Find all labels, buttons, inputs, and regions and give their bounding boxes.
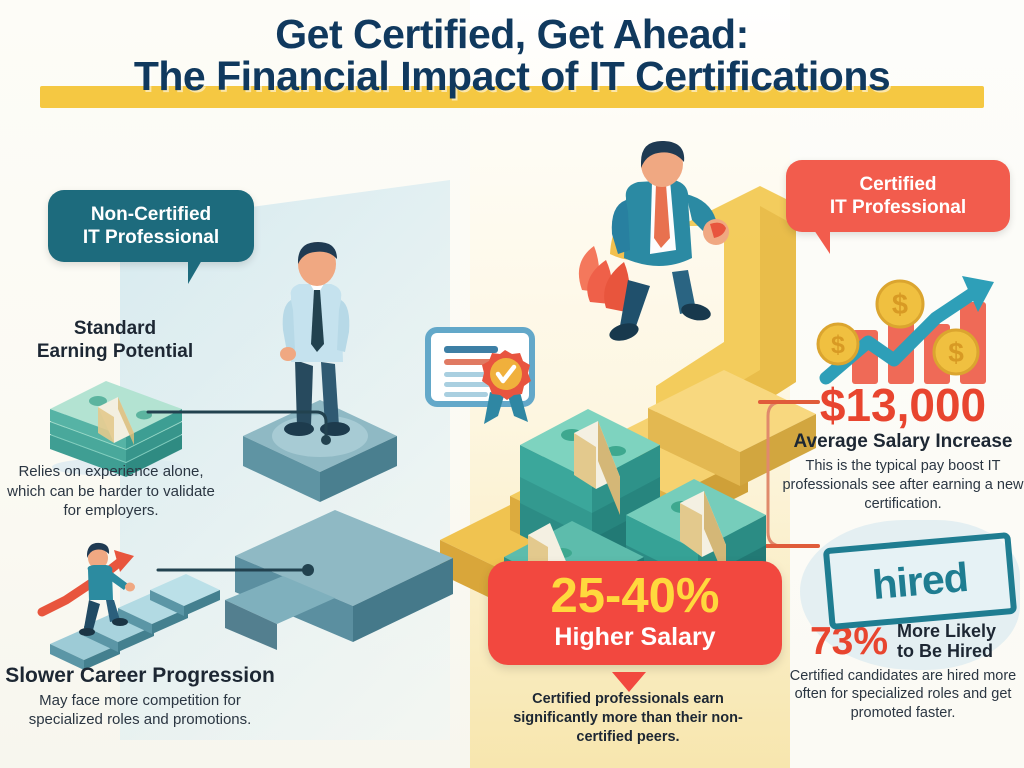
hired-likelihood-label-line-1: More Likely — [897, 622, 996, 642]
infographic-canvas: Get Certified, Get Ahead: The Financial … — [0, 0, 1024, 768]
hired-likelihood-stat: 73% More Likely to Be Hired Certified ca… — [782, 622, 1024, 723]
standard-earning-heading-line-2: Earning Potential — [6, 341, 224, 364]
hired-stamp-icon: hired — [823, 532, 1017, 630]
non-certified-callout: Non-Certified IT Professional — [48, 190, 254, 262]
standard-earning-heading: Standard Earning Potential — [6, 318, 224, 364]
higher-salary-badge-tail — [612, 672, 646, 692]
higher-salary-badge: 25-40% Higher Salary — [488, 561, 782, 665]
non-certified-callout-line-2: IT Professional — [58, 226, 244, 249]
hired-stamp-text: hired — [871, 553, 970, 608]
standard-earning-description: Relies on experience alone, which can be… — [0, 462, 222, 521]
connector-line-earning — [146, 392, 336, 452]
average-salary-label: Average Salary Increase — [782, 431, 1024, 453]
title-line-2: The Financial Impact of IT Certification… — [0, 56, 1024, 98]
average-salary-description: This is the typical pay boost IT profess… — [782, 457, 1024, 514]
rocket-businessman-icon — [576, 142, 776, 362]
title-line-1: Get Certified, Get Ahead: — [0, 14, 1024, 56]
higher-salary-value: 25-40% — [496, 572, 774, 621]
slower-progression-description: May face more competition for specialize… — [0, 691, 280, 729]
certified-callout-line-2: IT Professional — [796, 196, 1000, 219]
higher-salary-label: Higher Salary — [496, 623, 774, 652]
hired-likelihood-label-line-2: to Be Hired — [897, 642, 996, 662]
non-certified-callout-line-1: Non-Certified — [58, 203, 244, 226]
stairs-climb-icon — [40, 540, 230, 665]
slower-progression-heading: Slower Career Progression — [0, 664, 280, 688]
hired-likelihood-row: 73% More Likely to Be Hired — [782, 622, 1024, 662]
svg-text:$: $ — [831, 331, 845, 359]
callout-tail — [806, 230, 830, 254]
svg-text:$: $ — [948, 337, 964, 368]
average-salary-value: $13,000 — [782, 382, 1024, 428]
callout-tail — [188, 260, 212, 284]
svg-text:$: $ — [892, 289, 908, 321]
certified-callout: Certified IT Professional — [786, 160, 1010, 232]
slower-progression-block: Slower Career Progression May face more … — [0, 664, 280, 729]
certified-callout-line-1: Certified — [796, 173, 1000, 196]
page-title: Get Certified, Get Ahead: The Financial … — [0, 14, 1024, 98]
standard-earning-heading-line-1: Standard — [6, 318, 224, 341]
average-salary-stat: $13,000 Average Salary Increase This is … — [782, 382, 1024, 514]
hired-likelihood-description: Certified candidates are hired more ofte… — [782, 667, 1024, 724]
higher-salary-description: Certified professionals earn significant… — [490, 690, 766, 747]
growth-chart-coins-icon: $ $ $ — [812, 272, 1012, 392]
money-stacks-icon — [492, 385, 792, 585]
hired-likelihood-label: More Likely to Be Hired — [897, 622, 996, 662]
